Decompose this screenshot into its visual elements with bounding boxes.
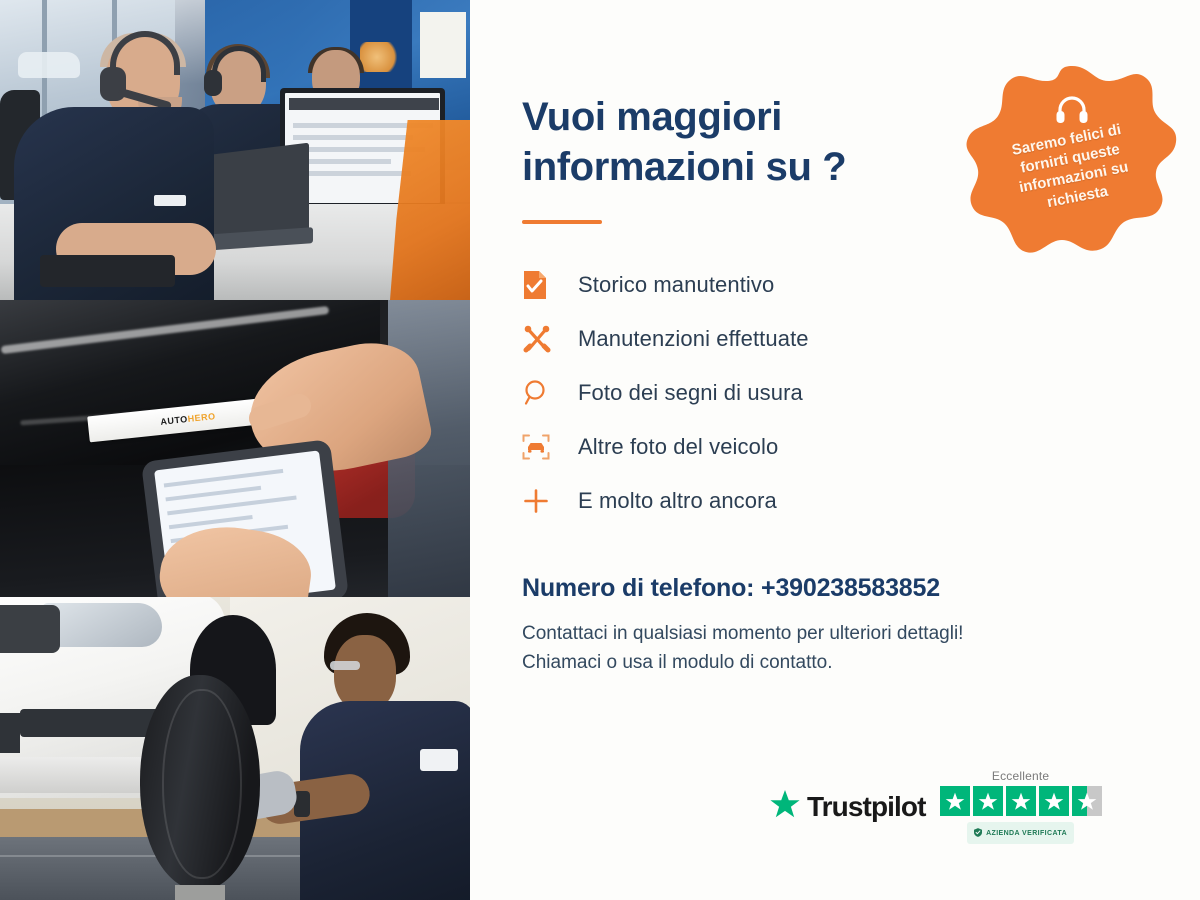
page-title: Vuoi maggiori informazioni su ? [522,92,952,192]
phone-number[interactable]: Numero di telefono: +390238583852 [522,574,1200,603]
car-scan-icon [522,433,568,461]
list-item: Foto dei segni di usura [522,366,1200,420]
star-filled [940,786,970,816]
list-item-label: Altre foto del veicolo [578,434,778,460]
badge-text: Saremo felici di fornirti queste informa… [991,116,1153,220]
headline-line-2: informazioni su ? [522,145,846,189]
trustpilot-star-icon [770,790,800,824]
headset-icon [1055,94,1089,124]
star-rating [940,786,1102,816]
content-panel: Vuoi maggiori informazioni su ? Storico … [470,0,1200,900]
verified-badge: AZIENDA VERIFICATA [967,822,1074,844]
shield-check-icon [974,824,982,842]
contact-block: Numero di telefono: +390238583852 Contat… [522,574,1200,678]
star-filled [1006,786,1036,816]
feature-list: Storico manutentivo Manutenzi [522,258,1200,528]
headline-line-1: Vuoi maggiori [522,95,782,139]
trustpilot-widget[interactable]: Trustpilot Eccellente [770,769,1102,844]
list-item: Manutenzioni effettuate [522,312,1200,366]
list-item-label: Manutenzioni effettuate [578,326,809,352]
rating-label: Eccellente [992,769,1049,783]
contact-subtext-line-1: Contattaci in qualsiasi momento per ulte… [522,623,963,644]
promo-banner: AUTOHERO [0,0,1200,900]
star-half [1072,786,1102,816]
plus-icon [522,487,568,515]
title-divider [522,220,602,224]
list-item-label: Foto dei segni di usura [578,380,803,406]
photo3-grille [0,605,60,653]
tyre-service-photo [0,597,470,900]
photo-column: AUTOHERO [0,0,470,900]
list-item-label: E molto altro ancora [578,488,777,514]
photo3-mechanic [300,613,470,900]
clipboard-check-icon [522,270,568,300]
list-item: E molto altro ancora [522,474,1200,528]
trustpilot-wordmark: Trustpilot [807,791,926,823]
photo3-headlight [42,603,162,647]
star-filled [973,786,1003,816]
magnifier-icon [522,379,568,407]
photo1-paper [420,12,466,78]
list-item-label: Storico manutentivo [578,272,774,298]
trustpilot-logo: Trustpilot [770,790,926,824]
photo3-tyre [140,675,260,890]
list-item: Altre foto del veicolo [522,420,1200,474]
photo1-keyboard [40,255,175,287]
status-badge: Saremo felici di fornirti queste informa… [966,62,1178,282]
photo3-side-vent [0,713,20,753]
vehicle-inspection-photo: AUTOHERO [0,300,470,597]
photo3-lift-pad [175,885,225,900]
star-filled [1039,786,1069,816]
contact-subtext: Contattaci in qualsiasi momento per ulte… [522,619,1200,678]
verified-label: AZIENDA VERIFICATA [986,830,1067,837]
trustpilot-rating: Eccellente [940,769,1102,844]
contact-subtext-line-2: Chiamaci o usa il modulo di contatto. [522,652,833,673]
call-center-agents-photo [0,0,470,300]
tools-icon [522,324,568,354]
